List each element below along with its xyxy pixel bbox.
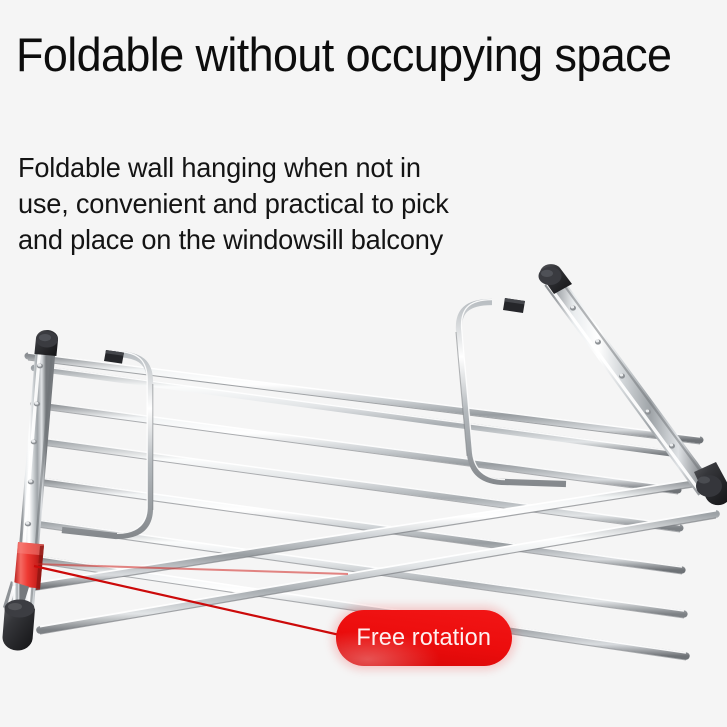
side-tube-right bbox=[539, 264, 727, 505]
product-marketing-slide: Foldable without occupying space Foldabl… bbox=[0, 0, 727, 727]
rail-4 bbox=[32, 477, 682, 574]
rail-group-top bbox=[28, 353, 700, 444]
rail-2 bbox=[34, 401, 678, 494]
rail-1 bbox=[34, 366, 676, 455]
end-cap-top-left bbox=[34, 330, 58, 356]
black-clip-right bbox=[503, 298, 525, 313]
hinge-collar bbox=[14, 542, 44, 590]
wing-bracket-right bbox=[456, 300, 566, 484]
description-paragraph: Foldable wall hanging when not in use, c… bbox=[18, 150, 600, 258]
page-title: Foldable without occupying space bbox=[16, 30, 685, 80]
description-line-3: and place on the windowsill balcony bbox=[18, 222, 600, 258]
end-cap-bottom-left bbox=[3, 600, 35, 651]
free-rotation-callout-badge[interactable]: Free rotation bbox=[336, 610, 512, 666]
description-line-1: Foldable wall hanging when not in bbox=[18, 150, 600, 186]
free-rotation-label: Free rotation bbox=[357, 624, 492, 652]
description-line-2: use, convenient and practical to pick bbox=[18, 186, 600, 222]
